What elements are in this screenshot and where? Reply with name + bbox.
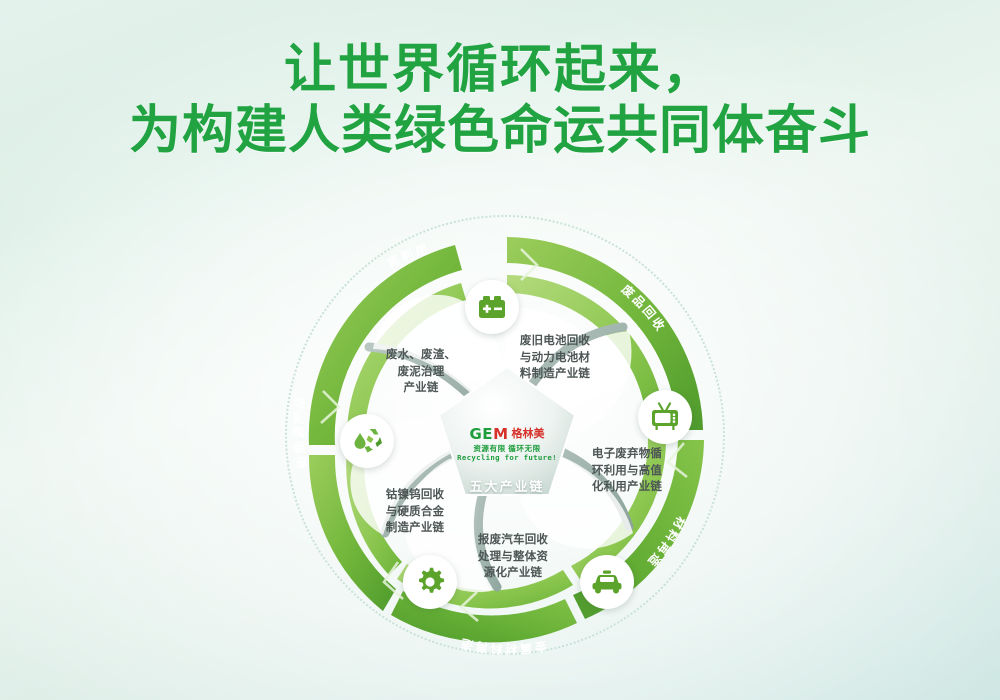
battery-icon <box>477 294 507 320</box>
page-headline: 让世界循环起来， 为构建人类绿色命运共同体奋斗 <box>0 40 1000 163</box>
gear-icon <box>415 567 445 597</box>
circular-economy-diagram: 废品回收 材料再造 金属材料再造 新能源产品 再利用 废旧电池回收 与动力电池材… <box>285 215 725 675</box>
segment-label-scrap-car: 报废汽车回收 处理与整体资 源化产业链 <box>461 532 565 582</box>
segment-label-battery: 废旧电池回收 与动力电池材 料制造产业链 <box>503 333 607 383</box>
logo-latin-wordmark: GEM <box>470 427 509 442</box>
headline-line-1: 让世界循环起来， <box>0 40 1000 101</box>
recycle-water-icon-bubble[interactable] <box>340 414 394 468</box>
logo-slogan-cn: 资源有限 循环无限 <box>457 445 557 453</box>
headline-line-2: 为构建人类绿色命运共同体奋斗 <box>0 101 1000 162</box>
logo-chinese-wordmark: 格林美 <box>512 429 545 440</box>
ring-label-new-energy-products: 新能源产品 <box>291 394 311 470</box>
center-logo-block: GEM 格林美 资源有限 循环无限 Recycling for future! … <box>448 415 566 519</box>
battery-icon-bubble[interactable] <box>465 280 519 334</box>
car-icon-bubble[interactable] <box>580 555 634 609</box>
logo-slogan-en: Recycling for future! <box>457 454 557 461</box>
segment-label-e-waste: 电子废弃物循 环利用与高值 化利用产业链 <box>575 446 679 496</box>
segment-label-waste-water: 废水、废渣、 废泥治理 产业链 <box>369 347 473 397</box>
recycle-water-icon <box>351 426 383 456</box>
television-icon <box>650 402 680 432</box>
car-icon <box>591 570 623 594</box>
television-icon-bubble[interactable] <box>638 390 692 444</box>
gear-icon-bubble[interactable] <box>403 555 457 609</box>
gem-logo: GEM 格林美 资源有限 循环无限 Recycling for future! <box>457 427 557 462</box>
center-title: 五大产业链 <box>469 476 544 495</box>
